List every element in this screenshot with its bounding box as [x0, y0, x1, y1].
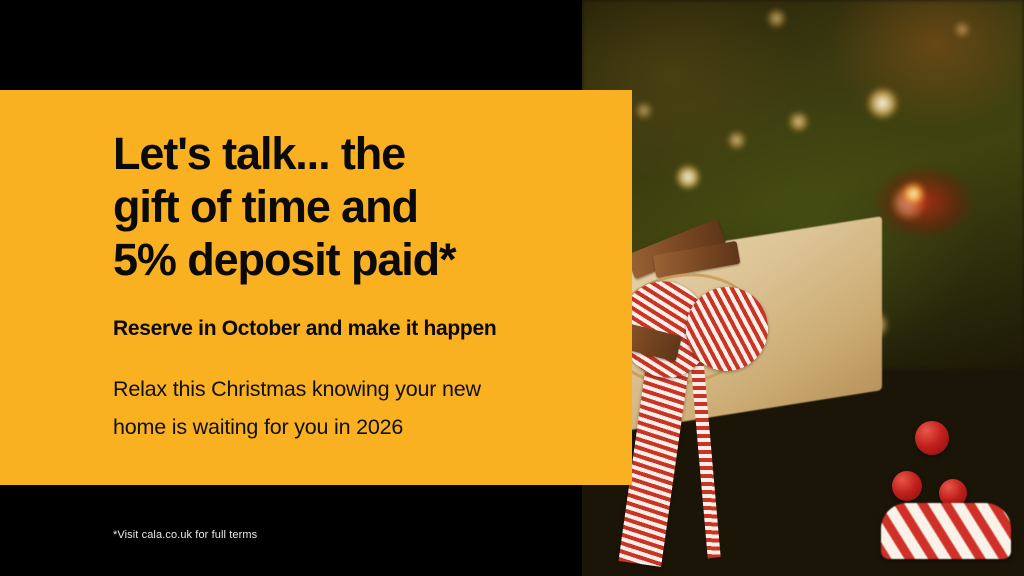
terms-footnote: *Visit cala.co.uk for full terms	[113, 529, 257, 541]
black-band-top	[0, 0, 582, 90]
candy-cane	[881, 503, 1011, 559]
headline: Let's talk... the gift of time and 5% de…	[113, 127, 455, 286]
christmas-photo	[582, 0, 1024, 576]
body-copy: Relax this Christmas knowing your new ho…	[113, 370, 613, 446]
black-band-bottom	[0, 485, 582, 576]
subheading: Reserve in October and make it happen	[113, 317, 496, 341]
promotional-banner: Let's talk... the gift of time and 5% de…	[0, 0, 1024, 576]
message-panel: Let's talk... the gift of time and 5% de…	[0, 90, 632, 485]
red-berry	[915, 421, 949, 455]
